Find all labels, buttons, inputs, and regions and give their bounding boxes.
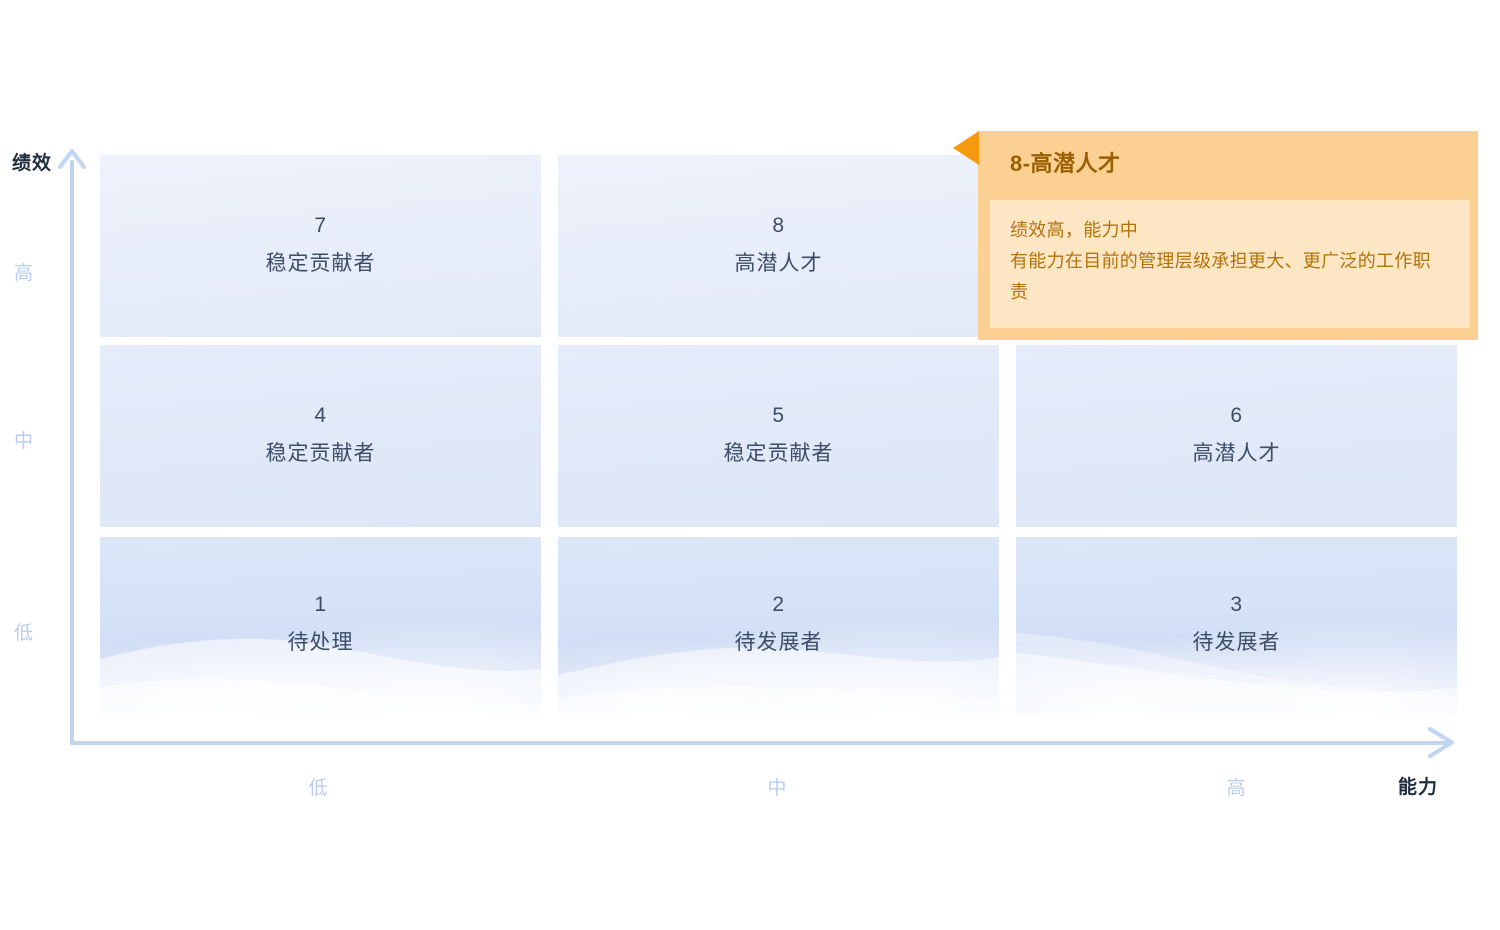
- tooltip-pointer-icon: [953, 131, 979, 165]
- grid-cell-6[interactable]: 6 高潜人才: [1016, 345, 1457, 527]
- nine-box-grid-chart: 绩效 能力 高 中 低 低 中 高 7 稳定贡献者 8 高潜人才 9 4 稳定贡…: [0, 0, 1500, 930]
- grid-cell-2[interactable]: 2 待发展者: [558, 537, 999, 713]
- y-axis-tick-high: 高: [14, 258, 58, 285]
- grid-cell-label: 稳定贡献者: [266, 247, 376, 281]
- grid-cell-label: 待处理: [288, 626, 354, 660]
- grid-cell-1[interactable]: 1 待处理: [100, 537, 541, 713]
- grid-cell-label: 稳定贡献者: [724, 437, 834, 471]
- grid-cell-number: 4: [314, 401, 326, 431]
- grid-cell-number: 8: [772, 211, 784, 241]
- grid-cell-7[interactable]: 7 稳定贡献者: [100, 155, 541, 337]
- grid-cell-8[interactable]: 8 高潜人才: [558, 155, 999, 337]
- grid-cell-label: 待发展者: [1193, 626, 1281, 660]
- grid-cell-label: 待发展者: [735, 626, 823, 660]
- grid-cell-number: 7: [314, 211, 326, 241]
- grid-cell-5[interactable]: 5 稳定贡献者: [558, 345, 999, 527]
- x-axis-arrow-icon: [1426, 727, 1460, 759]
- x-axis-line: [70, 741, 1448, 745]
- grid-cell-number: 3: [1230, 590, 1242, 620]
- grid-cell-number: 2: [772, 590, 784, 620]
- x-axis-tick-high: 高: [1176, 773, 1296, 800]
- grid-cell-number: 6: [1230, 401, 1242, 431]
- tooltip-summary: 绩效高，能力中: [1010, 214, 1448, 246]
- grid-cell-label: 高潜人才: [1193, 437, 1281, 471]
- tooltip-body: 绩效高，能力中 有能力在目前的管理层级承担更大、更广泛的工作职责: [990, 200, 1470, 328]
- tooltip-description: 有能力在目前的管理层级承担更大、更广泛的工作职责: [1010, 246, 1448, 308]
- grid-cell-number: 1: [314, 590, 326, 620]
- x-axis-tick-medium: 中: [717, 773, 837, 800]
- snow-landscape-decoration: [558, 537, 999, 713]
- y-axis-line: [70, 160, 74, 745]
- y-axis-tick-medium: 中: [14, 426, 58, 453]
- grid-cell-4[interactable]: 4 稳定贡献者: [100, 345, 541, 527]
- y-axis-arrow-icon: [56, 148, 88, 180]
- y-axis-tick-low: 低: [14, 618, 58, 645]
- y-axis-title: 绩效: [12, 150, 60, 177]
- grid-cell-label: 高潜人才: [735, 247, 823, 281]
- snow-landscape-decoration: [100, 537, 541, 713]
- grid-cell-number: 5: [772, 401, 784, 431]
- snow-landscape-decoration: [1016, 537, 1457, 713]
- grid-cell-label: 稳定贡献者: [266, 437, 376, 471]
- x-axis-tick-low: 低: [258, 773, 378, 800]
- x-axis-title: 能力: [1398, 772, 1438, 799]
- grid-cell-3[interactable]: 3 待发展者: [1016, 537, 1457, 713]
- tooltip-title: 8-高潜人才: [1010, 146, 1121, 178]
